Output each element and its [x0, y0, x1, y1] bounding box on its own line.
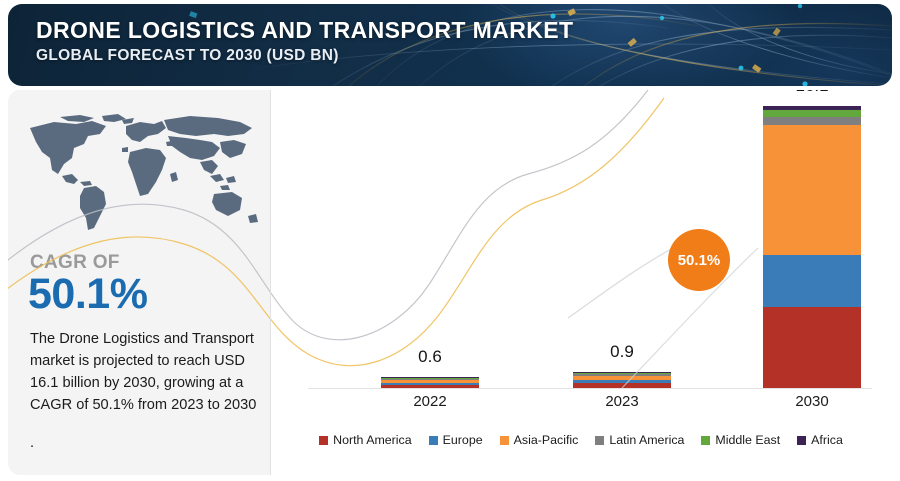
- bar-segment-middle-east[interactable]: [573, 373, 671, 374]
- bar-segment-europe[interactable]: [763, 255, 861, 308]
- legend-swatch-icon: [701, 436, 710, 445]
- x-axis-category-label: 2022: [360, 393, 500, 410]
- x-axis-category-label: 2023: [552, 393, 692, 410]
- bar-group: [763, 106, 861, 388]
- bar-segment-asia-pacific[interactable]: [573, 376, 671, 381]
- page-title: DRONE LOGISTICS AND TRANSPORT MARKET: [36, 18, 573, 44]
- legend-label: Latin America: [609, 433, 684, 447]
- bar-segment-asia-pacific[interactable]: [381, 380, 479, 383]
- infographic-root: DRONE LOGISTICS AND TRANSPORT MARKET GLO…: [0, 0, 900, 481]
- legend-item[interactable]: Africa: [797, 433, 843, 447]
- page-subtitle: GLOBAL FORECAST TO 2030 (USD BN): [36, 47, 573, 65]
- cagr-bubble-label: 50.1%: [678, 252, 721, 269]
- bar-value-label: 16.1: [742, 90, 882, 96]
- legend-swatch-icon: [429, 436, 438, 445]
- legend-item[interactable]: Middle East: [701, 433, 780, 447]
- x-axis-category-label: 2030: [742, 393, 882, 410]
- legend-item[interactable]: Asia-Pacific: [500, 433, 579, 447]
- legend-item[interactable]: North America: [319, 433, 412, 447]
- plot-area: 0.60.916.1: [310, 106, 870, 388]
- bar-segment-africa[interactable]: [573, 372, 671, 373]
- legend-swatch-icon: [797, 436, 806, 445]
- bar-value-label: 0.6: [360, 347, 500, 367]
- stacked-bar[interactable]: [381, 378, 479, 389]
- left-summary-panel: CAGR OF 50.1% The Drone Logistics and Tr…: [8, 90, 270, 475]
- bar-segment-latin-america[interactable]: [573, 374, 671, 376]
- legend-item[interactable]: Latin America: [595, 433, 684, 447]
- stacked-bar[interactable]: [763, 106, 861, 388]
- bar-segment-europe[interactable]: [381, 383, 479, 385]
- panel-divider: [270, 90, 271, 475]
- bar-value-label: 0.9: [552, 342, 692, 362]
- market-description-text: The Drone Logistics and Transport market…: [30, 331, 256, 413]
- chart-legend: North AmericaEuropeAsia-PacificLatin Ame…: [270, 433, 892, 447]
- bar-segment-middle-east[interactable]: [763, 110, 861, 117]
- stacked-bar[interactable]: [573, 372, 671, 388]
- content-area: CAGR OF 50.1% The Drone Logistics and Tr…: [8, 90, 892, 475]
- x-axis-line: [308, 388, 872, 389]
- legend-label: Asia-Pacific: [514, 433, 579, 447]
- header-banner: DRONE LOGISTICS AND TRANSPORT MARKET GLO…: [8, 4, 892, 86]
- cagr-value: 50.1%: [28, 270, 147, 319]
- bar-segment-latin-america[interactable]: [763, 117, 861, 126]
- legend-swatch-icon: [595, 436, 604, 445]
- bar-segment-africa[interactable]: [763, 106, 861, 110]
- bar-segment-africa[interactable]: [381, 377, 479, 378]
- market-description: The Drone Logistics and Transport market…: [30, 329, 258, 454]
- bar-segment-europe[interactable]: [573, 380, 671, 383]
- legend-label: Europe: [443, 433, 483, 447]
- legend-swatch-icon: [319, 436, 328, 445]
- market-description-trailing: .: [30, 433, 258, 455]
- chart-panel: 0.60.916.1 50.1% North AmericaEuropeAsia…: [270, 90, 892, 475]
- legend-swatch-icon: [500, 436, 509, 445]
- legend-item[interactable]: Europe: [429, 433, 483, 447]
- bar-group: [381, 106, 479, 388]
- bar-segment-asia-pacific[interactable]: [763, 125, 861, 255]
- legend-label: North America: [333, 433, 412, 447]
- legend-label: Africa: [811, 433, 843, 447]
- stacked-bar-chart: 0.60.916.1 50.1% North AmericaEuropeAsia…: [270, 90, 892, 475]
- cagr-bubble-badge: 50.1%: [668, 229, 730, 291]
- bar-segment-north-america[interactable]: [381, 385, 479, 388]
- bar-segment-north-america[interactable]: [573, 383, 671, 388]
- legend-label: Middle East: [715, 433, 780, 447]
- world-map-icon: [14, 112, 264, 237]
- bar-segment-north-america[interactable]: [763, 307, 861, 388]
- bar-segment-latin-america[interactable]: [381, 379, 479, 380]
